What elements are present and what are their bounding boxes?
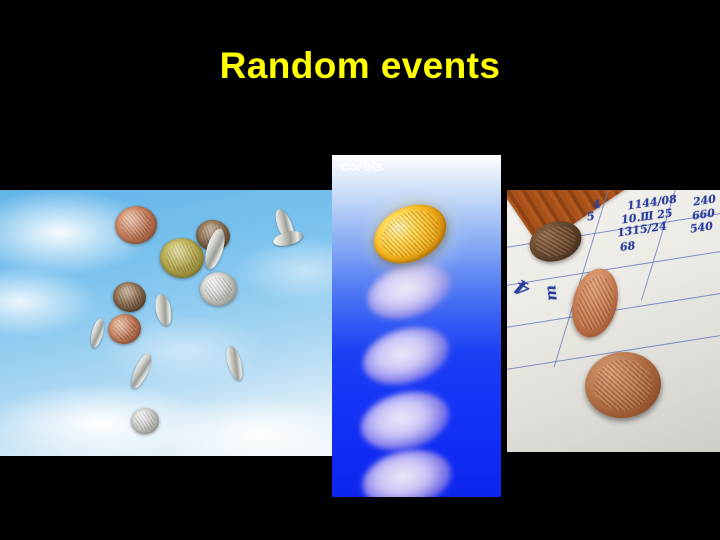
handwritten-note: 540	[689, 219, 714, 235]
image-spinning-gold-coin: corbis	[332, 155, 501, 497]
corbis-watermark: corbis	[341, 160, 383, 175]
page-title: Random events	[0, 46, 720, 86]
coin-edge	[89, 317, 107, 349]
coin-ghost	[357, 442, 457, 497]
handwritten-note: 4	[510, 274, 534, 302]
coin	[105, 311, 144, 347]
coin	[113, 203, 160, 246]
image-coins-on-ruled-paper: 4 5 1144/08 240 10.Ⅲ 25 660 1315/24 540 …	[507, 190, 720, 452]
handwritten-note: m	[541, 284, 561, 302]
coin-ghost	[355, 383, 456, 459]
coin-edge	[128, 351, 155, 391]
coin-edge	[153, 293, 174, 327]
handwritten-note: 5	[586, 210, 595, 224]
slide-canvas: Random events corbis 4	[0, 0, 720, 540]
handwritten-note: 68	[619, 239, 636, 254]
coin	[582, 348, 664, 422]
coin	[131, 408, 159, 434]
coin-edge	[223, 344, 245, 382]
image-coins-in-sky	[0, 190, 332, 456]
coin-ghost	[356, 318, 455, 394]
coin	[199, 271, 238, 307]
coin	[111, 279, 149, 314]
coin-edge	[272, 229, 304, 249]
